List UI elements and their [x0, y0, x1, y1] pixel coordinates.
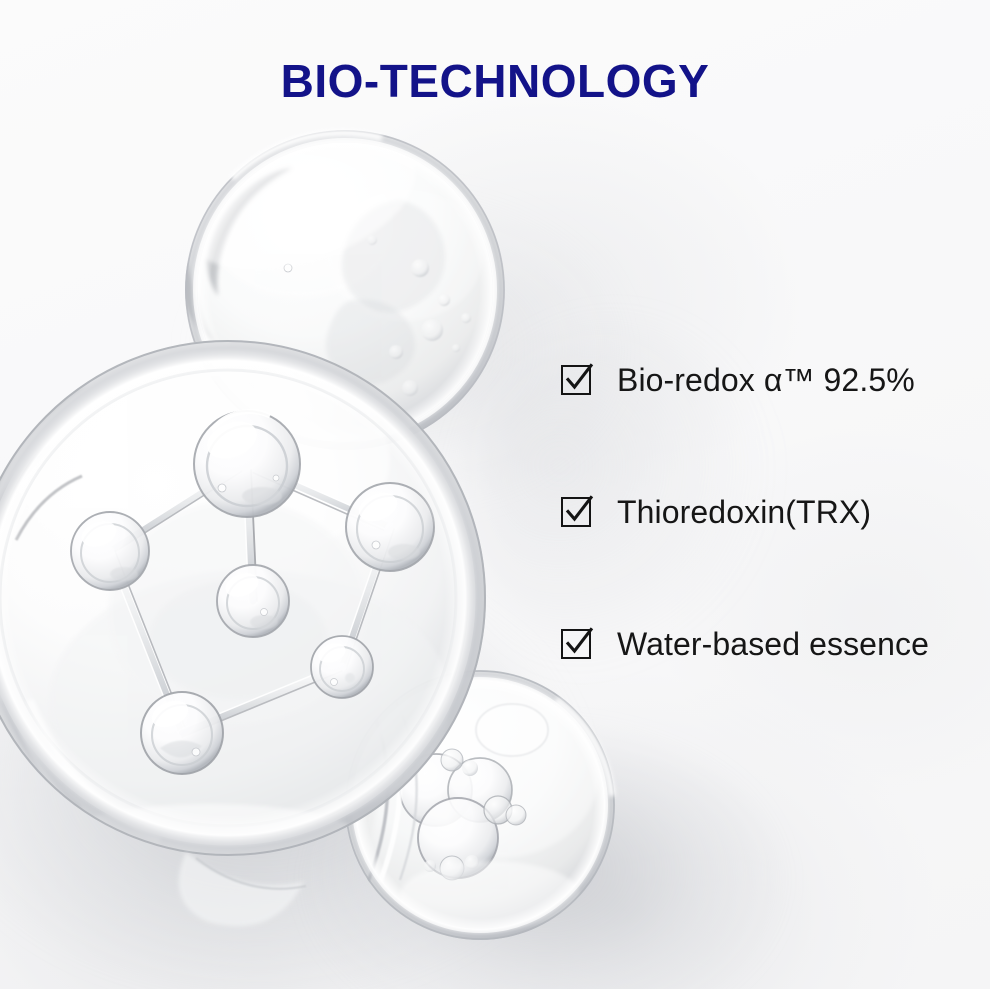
list-item-label: Water-based essence	[617, 626, 929, 663]
page-title: BIO-TECHNOLOGY	[0, 54, 990, 108]
checked-checkbox-icon[interactable]	[561, 365, 591, 395]
list-item[interactable]: Water-based essence	[561, 622, 981, 666]
feature-checklist: Bio-redox α™ 92.5% Thioredoxin(TRX) Wate…	[561, 358, 981, 666]
checked-checkbox-icon[interactable]	[561, 629, 591, 659]
list-item[interactable]: Thioredoxin(TRX)	[561, 490, 981, 534]
list-item-label: Bio-redox α™ 92.5%	[617, 362, 915, 399]
list-item-label: Thioredoxin(TRX)	[617, 494, 871, 531]
list-item[interactable]: Bio-redox α™ 92.5%	[561, 358, 981, 402]
checked-checkbox-icon[interactable]	[561, 497, 591, 527]
product-infographic: BIO-TECHNOLOGY Bio-redox α™ 92.5% Thiore…	[0, 0, 990, 989]
